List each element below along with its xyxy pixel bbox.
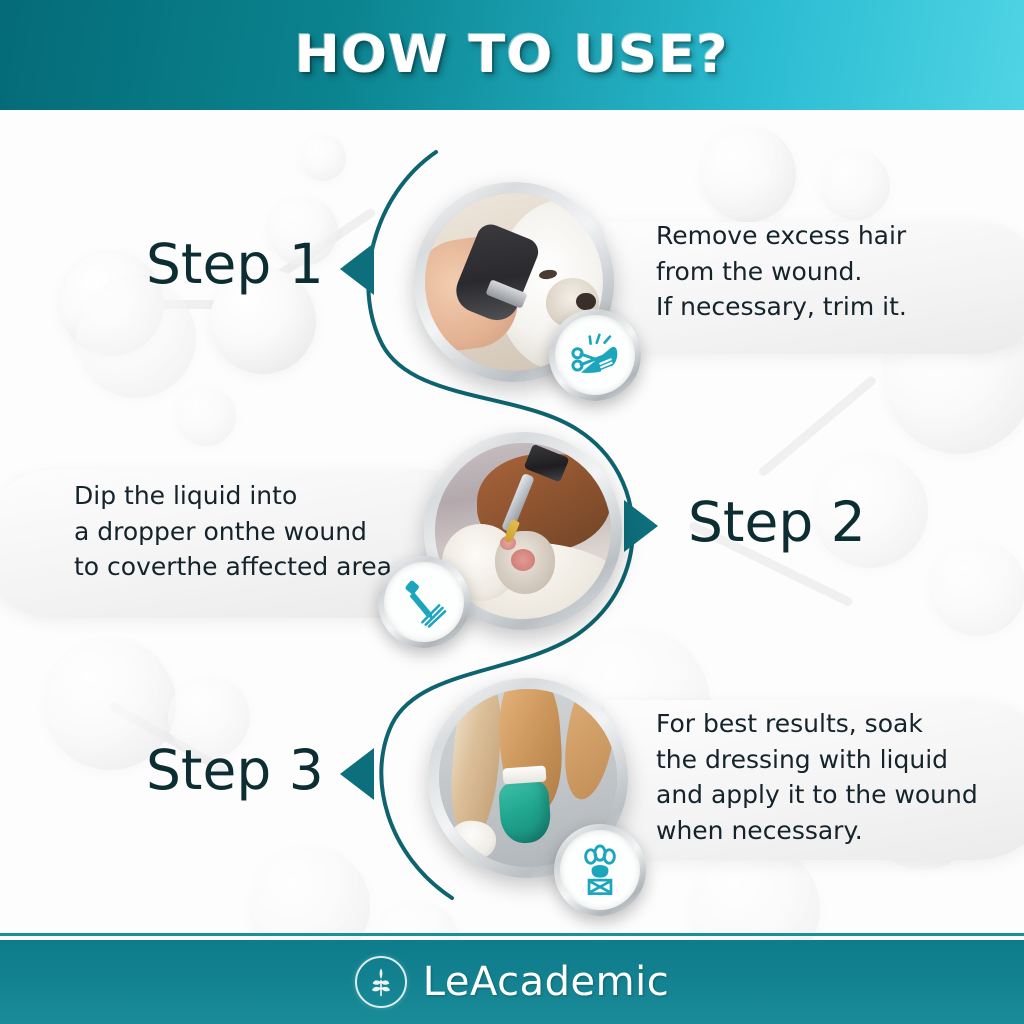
step-1-label: Step 1 xyxy=(146,232,324,296)
bubble xyxy=(820,150,890,220)
step-2-badge xyxy=(378,556,470,648)
step-3-badge xyxy=(554,824,646,916)
step-1-arrow-icon xyxy=(340,243,374,295)
molecule-bond xyxy=(120,300,270,309)
page-title: HOW TO USE? xyxy=(295,25,729,85)
footer-divider xyxy=(0,933,1024,936)
bubble xyxy=(176,386,236,446)
bubble xyxy=(930,540,1024,636)
scissors-and-comb-icon xyxy=(567,327,623,383)
step-2-arrow-icon xyxy=(624,500,658,552)
molecule-bond xyxy=(757,375,878,478)
infographic-canvas: HOW TO USE? Step 1 Remove excess hair fr… xyxy=(0,0,1024,1024)
step-3-arrow-icon xyxy=(340,748,374,800)
footer-bar: LeAcademic xyxy=(0,940,1024,1024)
dropper-pipette-icon xyxy=(397,575,451,629)
bubble xyxy=(76,278,196,398)
bubble xyxy=(700,126,796,222)
step-2-description: Dip the liquid into a dropper onthe woun… xyxy=(74,478,434,585)
step-3-label: Step 3 xyxy=(146,738,324,802)
step-2-label: Step 2 xyxy=(688,490,866,554)
step-1-badge xyxy=(549,309,641,401)
brand-name: LeAcademic xyxy=(423,959,669,1005)
header-banner: HOW TO USE? xyxy=(0,0,1024,110)
leaf-tree-circle-logo xyxy=(355,956,407,1008)
step-1-description: Remove excess hair from the wound. If ne… xyxy=(656,218,986,325)
bandaged-paw-icon xyxy=(573,843,627,897)
step-3-description: For best results, soak the dressing with… xyxy=(656,706,1016,848)
bubble xyxy=(300,135,346,181)
